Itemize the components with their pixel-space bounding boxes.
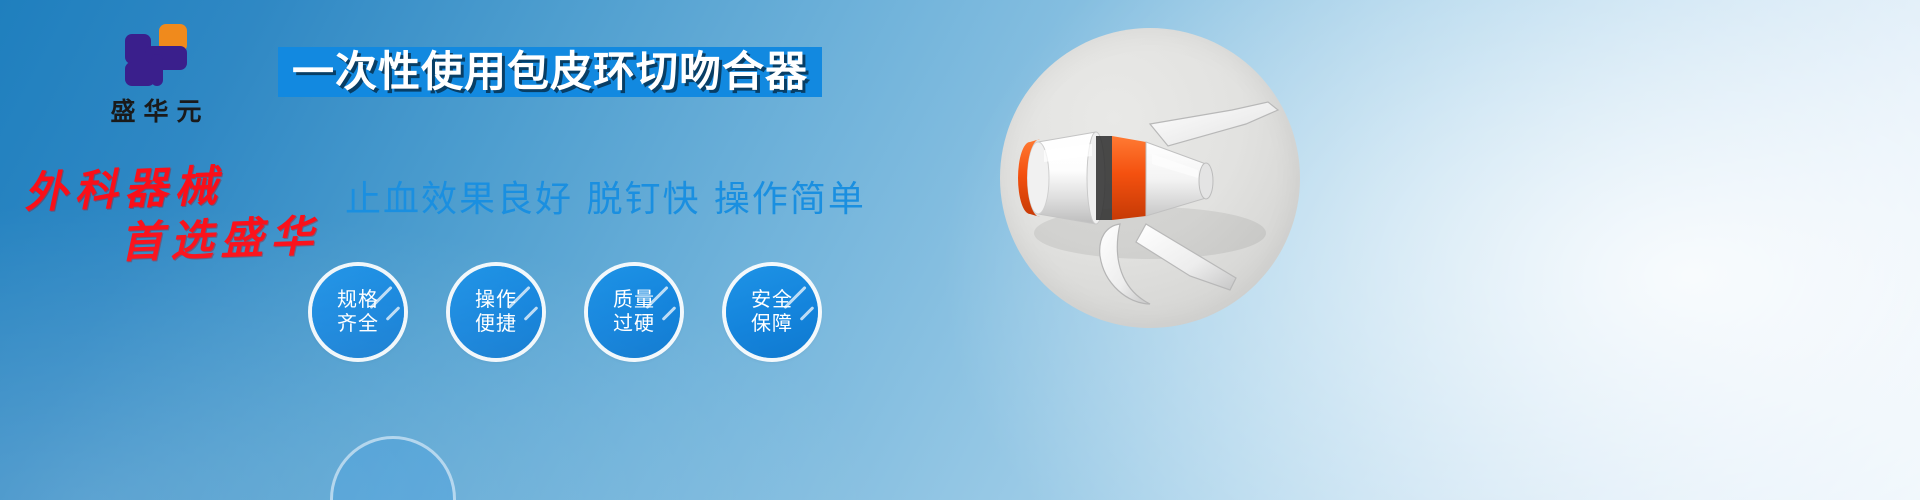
badge-label-line2: 保障 [751, 312, 793, 336]
logo-brand-name: 盛华元 [72, 92, 240, 128]
promo-banner: 盛华元 一次性使用包皮环切吻合器 外科器械 首选盛华 止血效果良好 脱钉快 操作… [0, 0, 1920, 500]
brand-logo[interactable]: 盛华元 [72, 24, 240, 128]
badge-shine-icon [662, 306, 677, 321]
feature-badge-safety[interactable]: 安全 保障 [726, 266, 818, 358]
feature-badge-operation[interactable]: 操作 便捷 [450, 266, 542, 358]
slogan-line-2: 首选盛华 [119, 202, 321, 271]
badge-label-line1: 质量 [613, 288, 655, 312]
logo-mark-icon [125, 24, 187, 86]
logo-square-purple-stem [151, 54, 163, 86]
feature-badge-group: 规格 齐全 操作 便捷 质量 过硬 安全 保障 [312, 266, 818, 358]
product-illustration-icon [1000, 28, 1300, 328]
badge-shine-icon [386, 306, 401, 321]
feature-badge-quality[interactable]: 质量 过硬 [588, 266, 680, 358]
product-upper-arm [1150, 102, 1278, 146]
badge-label-line1: 规格 [337, 288, 379, 312]
badge-label-line1: 安全 [751, 288, 793, 312]
badge-label-line2: 齐全 [337, 312, 379, 336]
product-photo[interactable] [1000, 28, 1300, 328]
main-title-text: 一次性使用包皮环切吻合器 [292, 51, 808, 93]
badge-label-line2: 便捷 [475, 312, 517, 336]
subtitle-text: 止血效果良好 脱钉快 操作简单 [345, 170, 866, 222]
badge-label-line2: 过硬 [613, 312, 655, 336]
badge-label-line1: 操作 [475, 288, 517, 312]
decorative-circle [330, 436, 456, 500]
main-title-bar: 一次性使用包皮环切吻合器 [278, 47, 822, 97]
feature-badge-specifications[interactable]: 规格 齐全 [312, 266, 404, 358]
badge-shine-icon [800, 306, 815, 321]
badge-shine-icon [524, 306, 539, 321]
